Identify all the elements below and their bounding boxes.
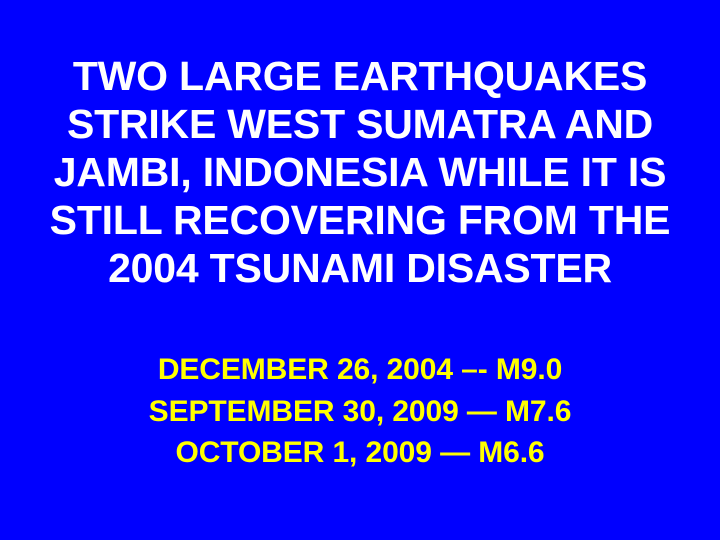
event-line-september-2009: SEPTEMBER 30, 2009 — M7.6 [0, 391, 720, 433]
slide-title: TWO LARGE EARTHQUAKES STRIKE WEST SUMATR… [0, 52, 720, 292]
event-line-october-2009: OCTOBER 1, 2009 — M6.6 [0, 433, 720, 472]
title-line-1: TWO LARGE EARTHQUAKES [0, 52, 720, 100]
title-line-3: JAMBI, INDONESIA WHILE IT IS [0, 148, 720, 196]
slide-subtitle: DECEMBER 26, 2004 –- M9.0 SEPTEMBER 30, … [0, 349, 720, 472]
title-line-5: 2004 TSUNAMI DISASTER [0, 244, 720, 292]
title-line-4: STILL RECOVERING FROM THE [0, 196, 720, 244]
title-line-2: STRIKE WEST SUMATRA AND [0, 100, 720, 148]
event-line-2004: DECEMBER 26, 2004 –- M9.0 [0, 349, 720, 391]
presentation-slide: TWO LARGE EARTHQUAKES STRIKE WEST SUMATR… [0, 0, 720, 540]
